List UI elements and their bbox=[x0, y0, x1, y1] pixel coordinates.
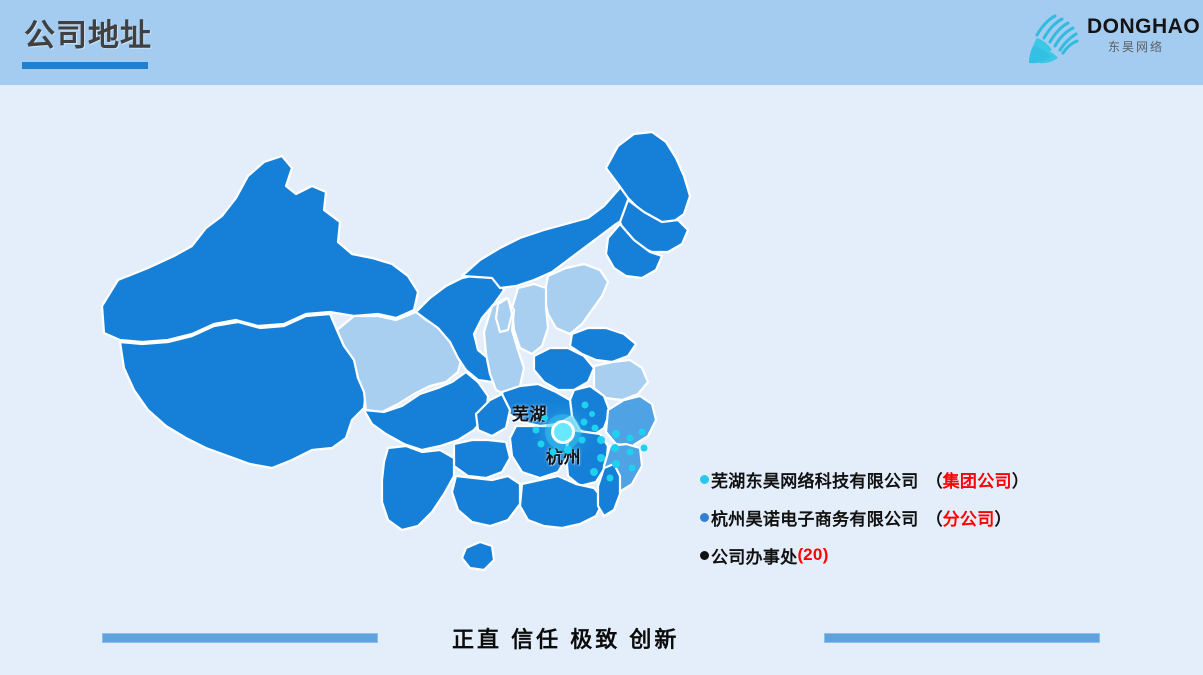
china-map-svg bbox=[96, 128, 716, 608]
china-map[interactable]: 芜湖 杭州 bbox=[96, 128, 716, 608]
slide-header: 公司地址 bbox=[0, 0, 1203, 85]
footer-decorative-bar-left bbox=[102, 633, 378, 643]
company-logo: DONGHAO 东昊网络 bbox=[1025, 10, 1185, 72]
legend-close-paren: ） bbox=[1012, 467, 1029, 492]
legend-open-paren: （ bbox=[926, 467, 943, 492]
legend-bullet-icon bbox=[700, 551, 709, 560]
logo-text-block: DONGHAO 东昊网络 bbox=[1087, 16, 1185, 56]
legend-item-offices[interactable]: 公司办事处 ( 20 ) bbox=[700, 536, 1120, 574]
legend-item-emphasis: 集团公司 bbox=[943, 467, 1012, 492]
legend-item-label: 公司办事处 bbox=[711, 543, 798, 568]
province-yunnan bbox=[382, 446, 454, 530]
legend: 芜湖东昊网络科技有限公司 （ 集团公司 ） 杭州昊诺电子商务有限公司 （ 分公司… bbox=[700, 460, 1120, 574]
province-guizhou bbox=[454, 440, 510, 478]
slide-canvas: 公司地址 bbox=[0, 0, 1203, 675]
province-shanxi bbox=[512, 284, 548, 354]
legend-item-emphasis: 分公司 bbox=[943, 505, 995, 530]
logo-wordmark: DONGHAO bbox=[1087, 16, 1185, 38]
province-guangxi bbox=[452, 476, 520, 526]
legend-item-branch-company[interactable]: 杭州昊诺电子商务有限公司 （ 分公司 ） bbox=[700, 498, 1120, 536]
legend-bullet-icon bbox=[700, 513, 709, 522]
title-underline-bar bbox=[22, 62, 148, 69]
legend-item-group-company[interactable]: 芜湖东昊网络科技有限公司 （ 集团公司 ） bbox=[700, 460, 1120, 498]
legend-open-paren: （ bbox=[926, 505, 943, 530]
province-ningxia bbox=[496, 298, 512, 332]
logo-subtitle: 东昊网络 bbox=[1087, 38, 1185, 56]
city-label-hangzhou: 杭州 bbox=[546, 443, 581, 468]
legend-close-paren: ） bbox=[995, 505, 1012, 530]
footer-decorative-bar-right bbox=[824, 633, 1100, 643]
page-title: 公司地址 bbox=[24, 20, 152, 51]
legend-close-paren: ) bbox=[823, 545, 829, 565]
province-xinjiang bbox=[102, 156, 418, 342]
province-zhejiang bbox=[606, 396, 656, 446]
legend-item-emphasis: 20 bbox=[803, 545, 823, 565]
province-hebei bbox=[544, 264, 608, 334]
province-hainan bbox=[462, 542, 494, 570]
legend-bullet-icon bbox=[700, 475, 709, 484]
legend-item-label: 杭州昊诺电子商务有限公司 bbox=[711, 505, 919, 530]
feather-wing-logo-icon bbox=[1025, 10, 1089, 70]
footer-slogan: 正直 信任 极致 创新 bbox=[452, 622, 679, 654]
legend-item-label: 芜湖东昊网络科技有限公司 bbox=[711, 467, 919, 492]
city-label-wuhu: 芜湖 bbox=[512, 400, 547, 425]
